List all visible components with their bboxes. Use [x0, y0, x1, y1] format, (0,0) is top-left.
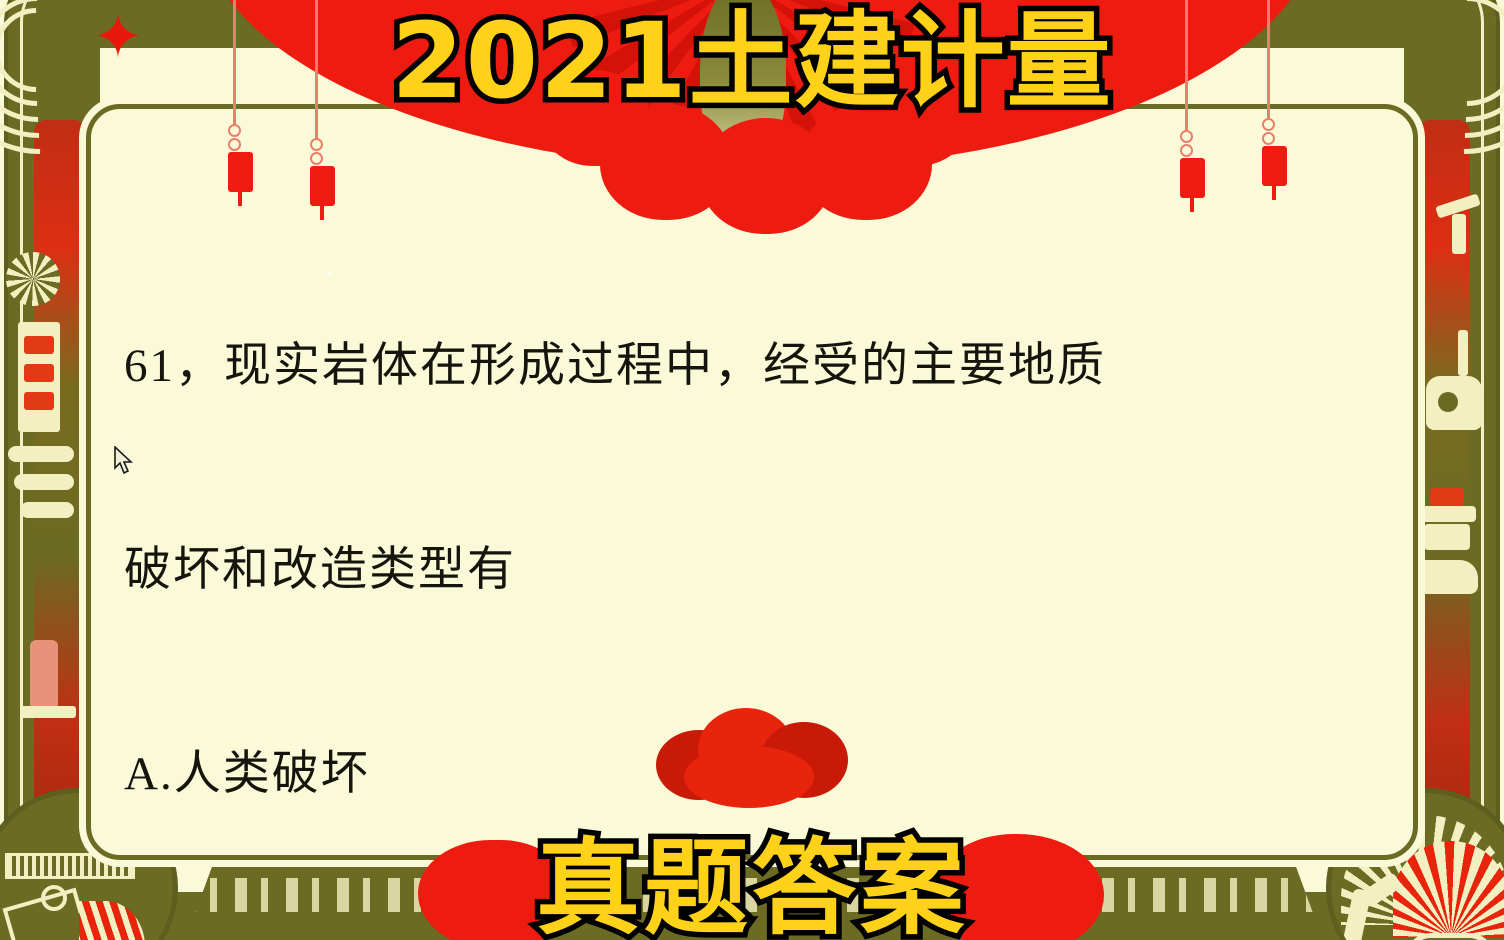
pagoda-glyph — [1418, 506, 1476, 522]
building-glyph-window — [24, 364, 54, 382]
pagoda-roof-glyph — [1430, 488, 1464, 506]
crane-base-glyph — [20, 706, 76, 718]
right-glyph — [1452, 214, 1466, 254]
video-title-bottom: 真题答案 — [0, 830, 1504, 940]
bar-glyph — [14, 474, 74, 490]
crane-glyph — [30, 640, 58, 710]
question-line-2: 破坏和改造类型有 — [124, 536, 1334, 604]
horse-eye-glyph — [1438, 392, 1458, 412]
bar-glyph — [20, 502, 74, 518]
building-glyph-window — [24, 336, 54, 354]
globe-icon — [6, 252, 60, 306]
video-frame: ✦ — [0, 0, 1504, 940]
right-glyph — [1458, 330, 1468, 376]
option-a[interactable]: A.人类破坏 — [124, 740, 1334, 808]
bar-glyph — [8, 446, 74, 462]
pagoda-body-glyph — [1424, 524, 1470, 550]
lion-glyph — [1416, 560, 1478, 594]
building-glyph-window — [24, 392, 54, 410]
video-title-top: 2021土建计量 — [0, 6, 1504, 116]
question-line-1: 61，现实岩体在形成过程中，经受的主要地质 — [124, 332, 1334, 400]
